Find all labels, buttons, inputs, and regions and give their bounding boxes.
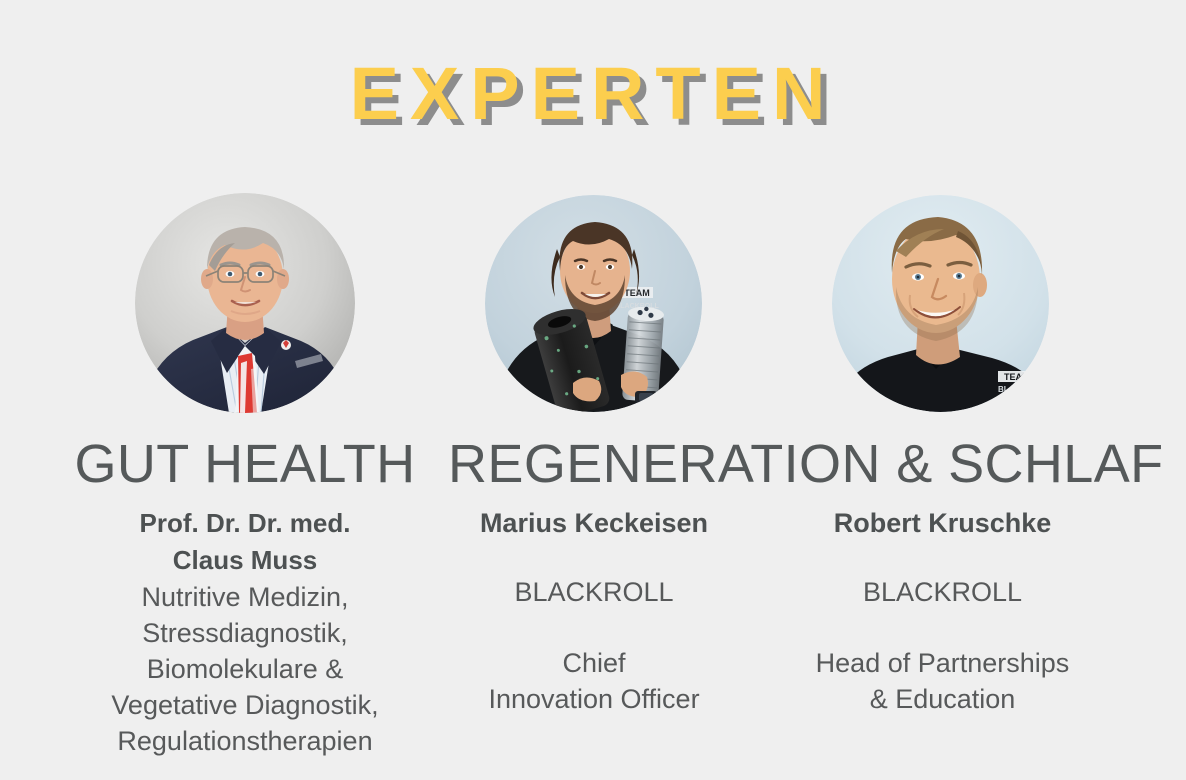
expert-name: Prof. Dr. Dr. med. Claus Muss <box>60 505 430 579</box>
expert-name: Marius Keckeisen <box>445 505 743 542</box>
expert-card-robert-kruschke: Robert Kruschke BLACKROLL Head of Partne… <box>790 505 1095 717</box>
expert-role: Chief Innovation Officer <box>445 645 743 717</box>
avatar: TEAM BLACKROLL <box>485 195 702 412</box>
svg-text:BLACK: BLACK <box>998 385 1026 394</box>
page-title: EXPERTEN <box>0 52 1186 136</box>
expert-card-claus-muss: Prof. Dr. Dr. med. Claus Muss Nutritive … <box>60 505 430 759</box>
avatar: TEA BLACK <box>832 195 1049 412</box>
expert-company: BLACKROLL <box>445 575 743 609</box>
section-heading-regeneration-schlaf: REGENERATION & SCHLAF <box>448 434 1088 494</box>
portrait-claus-muss-image <box>135 193 355 413</box>
portrait-marius-keckeisen-image: TEAM BLACKROLL <box>485 195 702 412</box>
expert-role: Head of Partnerships & Education <box>790 645 1095 717</box>
svg-text:TEA: TEA <box>1004 372 1023 382</box>
portrait-robert-kruschke-image: TEA BLACK <box>832 195 1049 412</box>
section-heading-gut-health: GUT HEALTH <box>0 434 490 494</box>
svg-text:TEAM: TEAM <box>624 288 650 298</box>
expert-card-marius-keckeisen: Marius Keckeisen BLACKROLL Chief Innovat… <box>445 505 743 717</box>
expert-name: Robert Kruschke <box>790 505 1095 542</box>
avatar <box>135 193 355 413</box>
expert-role: Nutritive Medizin, Stressdiagnostik, Bio… <box>60 579 430 759</box>
expert-company: BLACKROLL <box>790 575 1095 609</box>
